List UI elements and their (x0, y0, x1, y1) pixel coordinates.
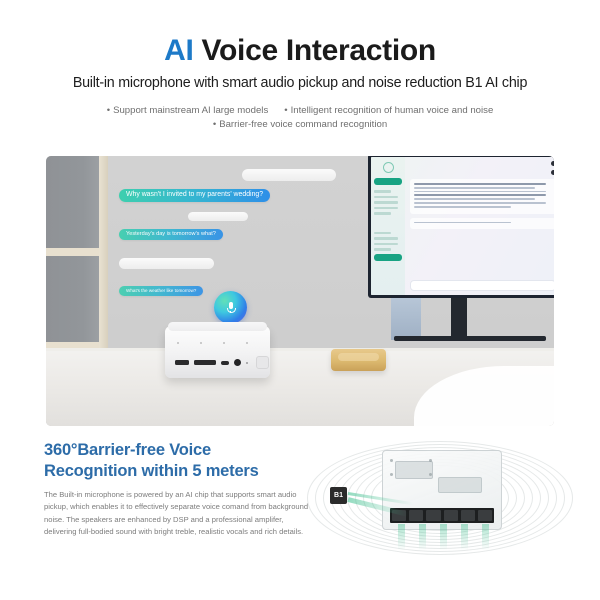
bullet-item: Support mainstream AI large models (107, 104, 269, 118)
app-logo-icon (383, 162, 394, 173)
bullet-row-2: Barrier-free voice command recognition (0, 118, 600, 132)
sidebar-item (374, 237, 398, 240)
desk-surface (46, 348, 554, 426)
usb-port (175, 360, 189, 365)
monitor-screen (371, 157, 554, 295)
sidebar-item (374, 201, 398, 204)
bullet-item: Barrier-free voice command recognition (213, 118, 387, 132)
mini-pc-device (165, 326, 270, 378)
chat-bubble: Why wasn't I invited to my parents' wedd… (119, 189, 270, 202)
sidebar-item (374, 190, 391, 193)
page-title: AI Voice Interaction (0, 36, 600, 66)
chip-module (395, 461, 433, 479)
reply-bubble-placeholder (119, 258, 214, 269)
section-heading-line1: 360°Barrier-free Voice (44, 440, 314, 461)
b1-chip-badge: B1 (330, 487, 347, 504)
bullet-row-1: Support mainstream AI large models Intel… (0, 104, 600, 118)
chat-toolbar (410, 170, 554, 175)
section-heading-line2: Recognition within 5 meters (44, 461, 314, 482)
sidebar-item (374, 243, 398, 246)
chat-message-card (410, 218, 554, 230)
desktop-tower (391, 296, 421, 340)
wooden-block (331, 349, 386, 371)
audio-beam (461, 524, 468, 550)
sidebar-item (374, 196, 398, 199)
microphone-icon (214, 291, 247, 324)
sidebar-item (374, 248, 391, 251)
port-markers (177, 342, 248, 344)
bullet-item: Intelligent recognition of human voice a… (284, 104, 493, 118)
reply-bubble-placeholder (242, 169, 336, 181)
section-heading: 360°Barrier-free Voice Recognition withi… (44, 440, 314, 482)
audio-beam (440, 524, 447, 550)
transparent-mini-pc (382, 450, 502, 530)
port-row (175, 356, 269, 369)
desk-rounded-corner (414, 366, 554, 426)
chat-panel (405, 157, 554, 295)
new-chat-button (374, 178, 402, 185)
feature-bullets: Support mainstream AI large models Intel… (0, 104, 600, 132)
led-indicator (246, 362, 248, 364)
chat-bubble: Yesterday's day is tomorrow's what? (119, 229, 223, 240)
reply-bubble-placeholder (188, 212, 248, 221)
header: AI Voice Interaction Built-in microphone… (0, 0, 600, 132)
audio-beam (482, 524, 489, 550)
sidebar-upgrade-button (374, 254, 402, 261)
product-feature-page: AI Voice Interaction Built-in microphone… (0, 0, 600, 600)
chat-input (410, 280, 554, 291)
title-rest: Voice Interaction (193, 34, 435, 67)
usb-c-port (221, 361, 229, 365)
mini-pc-top (168, 322, 267, 331)
sidebar-item (374, 232, 391, 235)
monitor-base (394, 336, 546, 341)
monitor (368, 156, 554, 298)
monitor-stand (451, 298, 467, 338)
chat-toolbar (410, 161, 554, 166)
hdmi-port (194, 360, 216, 365)
section-body-text: The Built-in microphone is powered by an… (44, 489, 312, 538)
audio-jack (234, 359, 241, 366)
title-accent: AI (164, 34, 193, 67)
avatar (551, 170, 554, 175)
audio-beam (419, 524, 426, 550)
product-scene-photo: Why wasn't I invited to my parents' wedd… (46, 156, 554, 426)
microphone-glyph (227, 302, 234, 313)
chat-bubble: What's the weather like tomorrow? (119, 286, 203, 296)
sidebar-item (374, 207, 398, 210)
audio-beam (398, 524, 405, 550)
sidebar-item (374, 212, 391, 215)
avatar (551, 161, 554, 166)
power-button (256, 356, 269, 369)
chip-module (438, 477, 482, 493)
shelf-edge (99, 156, 108, 352)
app-sidebar (371, 157, 405, 295)
shelf (46, 156, 108, 352)
page-subtitle: Built-in microphone with smart audio pic… (0, 75, 600, 91)
chat-message-card (410, 179, 554, 214)
